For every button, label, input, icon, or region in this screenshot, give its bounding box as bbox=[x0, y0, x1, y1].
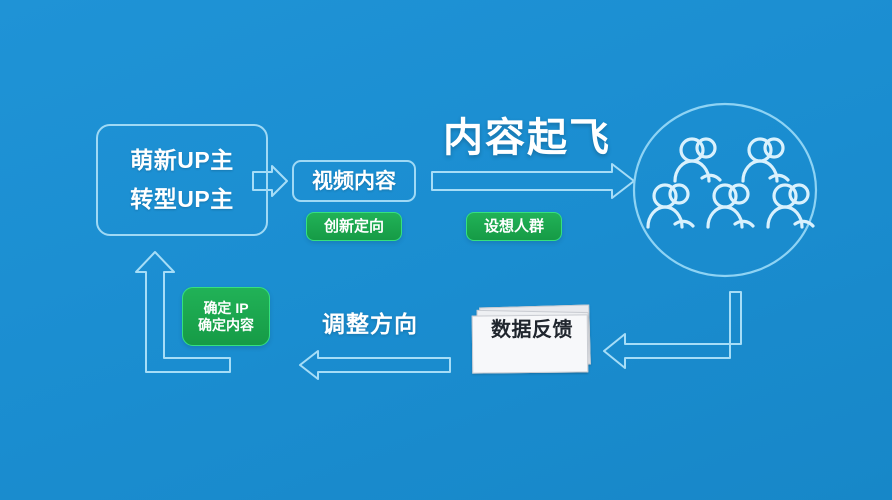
data-feedback-label: 数据反馈 bbox=[470, 320, 594, 340]
arrow-audience-to-feedback bbox=[604, 292, 741, 368]
connector-layer bbox=[0, 0, 892, 500]
badge-audience: 设想人群 bbox=[466, 212, 562, 241]
flow-label-adjust-direction: 调整方向 bbox=[322, 313, 418, 336]
video-content-box: 视频内容 bbox=[292, 160, 416, 202]
diagram-canvas: 萌新UP主 转型UP主 视频内容 创新定向 设想人群 确定 IP 确定内容 内容… bbox=[0, 0, 892, 500]
badge-ip-line-2: 确定内容 bbox=[198, 317, 254, 334]
audience-circle-outline bbox=[634, 104, 816, 276]
video-content-label: 视频内容 bbox=[312, 171, 396, 192]
badge-ip-content: 确定 IP 确定内容 bbox=[182, 287, 270, 346]
people-group-icon bbox=[648, 139, 813, 227]
headline-title: 内容起飞 bbox=[443, 118, 611, 158]
arrow-feedback-to-ip bbox=[300, 351, 450, 379]
data-feedback-paper-stack: 数据反馈 bbox=[470, 306, 594, 376]
badge-ip-line-1: 确定 IP bbox=[203, 300, 248, 317]
creator-line-newbie: 萌新UP主 bbox=[130, 149, 233, 172]
arrow-video-to-audience bbox=[432, 164, 634, 198]
badge-audience-label: 设想人群 bbox=[484, 218, 544, 236]
creator-source-box: 萌新UP主 转型UP主 bbox=[96, 124, 268, 236]
badge-innovation-label: 创新定向 bbox=[324, 218, 384, 236]
creator-line-transition: 转型UP主 bbox=[130, 188, 233, 211]
badge-innovation: 创新定向 bbox=[306, 212, 402, 241]
